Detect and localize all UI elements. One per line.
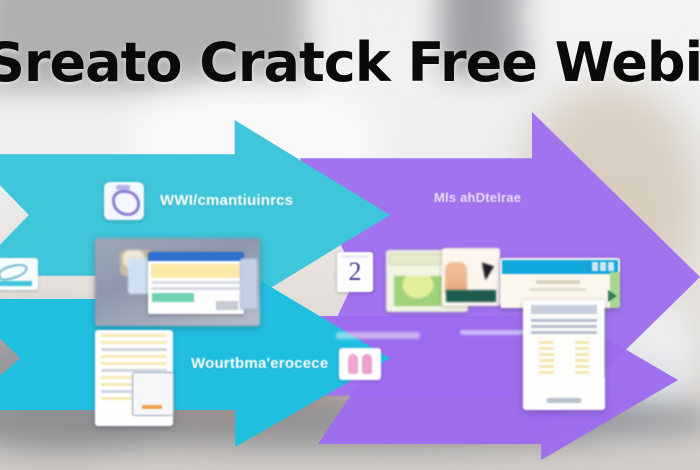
picture-icon [104, 182, 144, 220]
browser-content-line [530, 288, 586, 291]
mini-browser-line [152, 287, 240, 290]
number-badge-cap [341, 255, 369, 258]
mini-tall-panel [240, 258, 258, 310]
number-badge-value: 2 [349, 259, 362, 285]
document-column [567, 338, 598, 377]
orange-template-thumbnail [442, 248, 500, 306]
document-line [539, 365, 554, 368]
step-two-label: Wourtbma'erocece [191, 355, 328, 372]
document-line [101, 362, 167, 365]
browser-window-controls [592, 262, 614, 271]
document-line [101, 348, 167, 351]
step-one-label: WWI/cmantiuinrcs [160, 192, 293, 209]
step-three-label: Mls ahDtelrae [434, 190, 521, 205]
cursor-icon [477, 262, 494, 281]
template-footer-bar [446, 290, 496, 302]
people-icon-figure [362, 354, 372, 374]
document-line [101, 341, 167, 344]
document-line [539, 359, 554, 362]
document-line [575, 371, 590, 374]
mini-browser-line [152, 281, 240, 284]
banner-canvas: 2 [0, 0, 700, 470]
document-line [575, 365, 590, 368]
document-line [531, 331, 597, 334]
decor-strip [336, 332, 420, 339]
document-heading [531, 305, 597, 314]
document-inset-swatch [142, 405, 162, 409]
document-line [575, 353, 590, 356]
page-title: Sreato Cratck Free Webit [0, 36, 700, 90]
browser-content-line [536, 280, 580, 284]
number-badge-icon: 2 [337, 252, 373, 292]
mini-browser-button-secondary [216, 301, 238, 310]
mini-browser-titlebar [148, 252, 244, 261]
document-footer-bar [547, 398, 581, 403]
people-icon-figure [348, 354, 358, 374]
document-line [539, 371, 554, 374]
document-line [101, 355, 167, 358]
people-icon [339, 348, 381, 380]
leaf-icon [608, 290, 617, 302]
document-line [531, 319, 597, 322]
document-line [531, 325, 597, 328]
document-line [539, 341, 554, 344]
template-image [394, 276, 442, 306]
document-side-accent [604, 308, 605, 378]
decor-strip [460, 330, 530, 335]
document-line [539, 353, 554, 356]
document-line [575, 359, 590, 362]
scribble-icon-bar [0, 281, 32, 286]
mini-browser-hero [151, 264, 241, 278]
document-line [575, 341, 590, 344]
document-line [575, 347, 590, 350]
mini-browser-button [152, 293, 194, 302]
scribble-icon [0, 258, 38, 290]
picture-icon-lens [112, 190, 140, 216]
document-column [531, 338, 562, 377]
document-columns [531, 338, 597, 377]
mini-browser-mockup [148, 252, 244, 314]
document-line [101, 334, 167, 337]
long-document-mockup [523, 300, 605, 410]
scribble-icon-loop [0, 262, 29, 282]
document-line [539, 347, 554, 350]
document-inset-thumbnail [132, 372, 174, 416]
